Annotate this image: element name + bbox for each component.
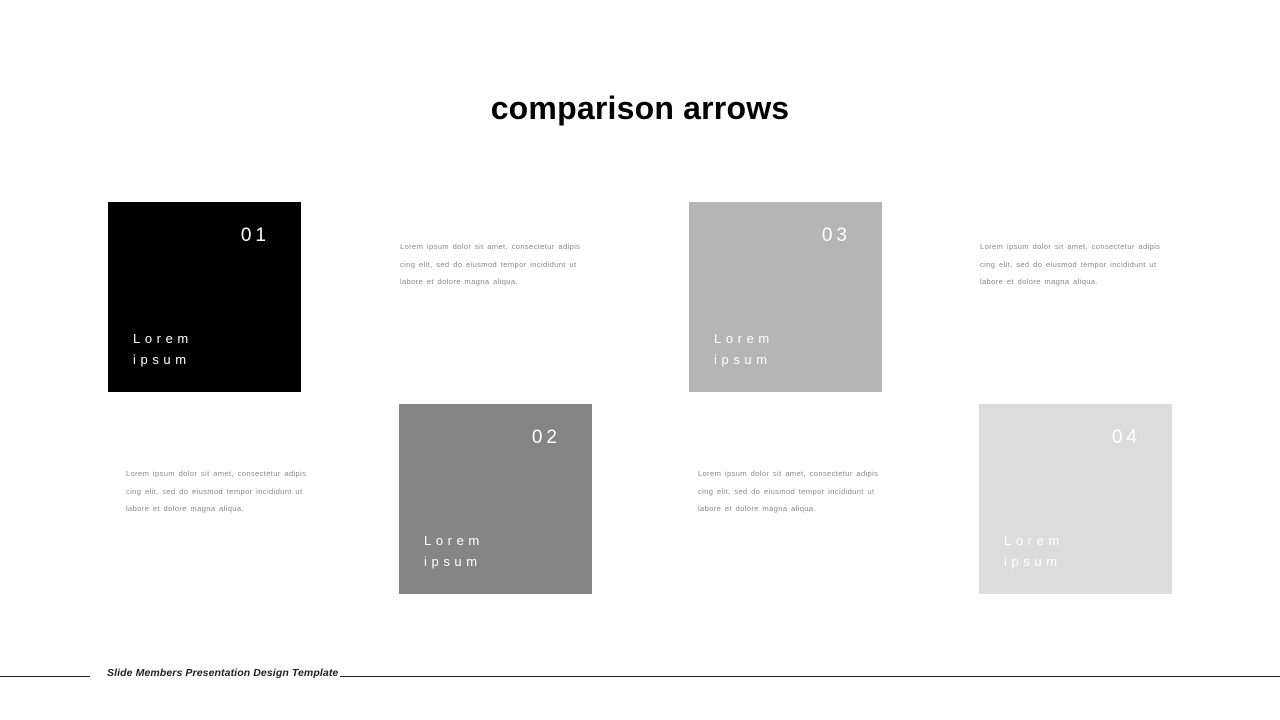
footer-label: Slide Members Presentation Design Templa…	[107, 667, 338, 679]
card-number-01: 01	[241, 226, 270, 245]
comparison-card-03[interactable]: 03 Lorem ipsum	[689, 202, 882, 392]
card-number-04: 04	[1112, 428, 1141, 447]
slide-canvas: { "slide": { "title": "comparison arrows…	[0, 0, 1280, 720]
comparison-card-01[interactable]: 01 Lorem ipsum	[108, 202, 301, 392]
slide-footer: Slide Members Presentation Design Templa…	[0, 667, 1280, 687]
page-title: comparison arrows	[0, 90, 1280, 127]
footer-divider-right	[340, 676, 1280, 677]
card-label-03: Lorem ipsum	[714, 328, 774, 370]
card-description-01: Lorem ipsum dolor sit amet, consectetur …	[400, 238, 585, 291]
card-description-04: Lorem ipsum dolor sit amet, consectetur …	[698, 465, 883, 518]
card-label-04: Lorem ipsum	[1004, 530, 1064, 572]
comparison-card-02[interactable]: 02 Lorem ipsum	[399, 404, 592, 594]
card-number-03: 03	[822, 226, 851, 245]
card-label-01: Lorem ipsum	[133, 328, 193, 370]
card-description-03: Lorem ipsum dolor sit amet, consectetur …	[980, 238, 1165, 291]
card-number-02: 02	[532, 428, 561, 447]
footer-divider-left	[0, 676, 90, 677]
comparison-card-04[interactable]: 04 Lorem ipsum	[979, 404, 1172, 594]
card-label-02: Lorem ipsum	[424, 530, 484, 572]
card-description-02: Lorem ipsum dolor sit amet, consectetur …	[126, 465, 311, 518]
